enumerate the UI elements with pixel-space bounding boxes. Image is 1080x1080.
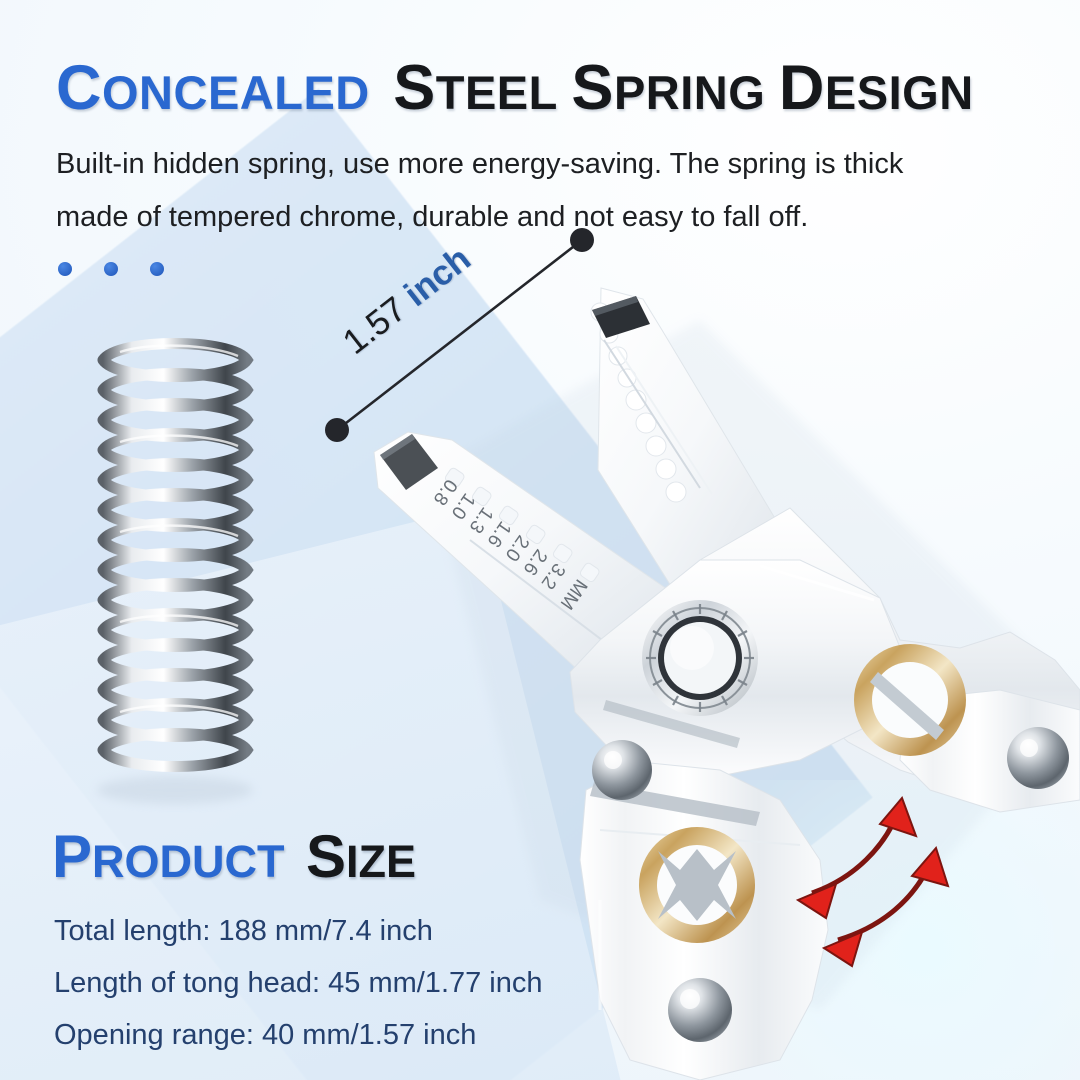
dot-icon <box>58 262 72 276</box>
pivot-ring <box>642 600 758 716</box>
spec-list: Total length: 188 mm/7.4 inch Length of … <box>54 905 543 1061</box>
chrome-coil-spring <box>97 344 253 805</box>
spec-row-opening-range: Opening range: 40 mm/1.57 inch <box>54 1009 543 1061</box>
product-size-heading: PRODUCT SIZE <box>52 822 416 891</box>
description-line-1: Built-in hidden spring, use more energy-… <box>56 138 1006 191</box>
brass-grommet-cross <box>639 827 755 943</box>
brass-grommet-slotted <box>854 644 966 756</box>
ball-bearing <box>1007 727 1069 789</box>
spec-row-total-length: Total length: 188 mm/7.4 inch <box>54 905 543 957</box>
decorative-dots <box>58 262 164 276</box>
spec-row-tong-head: Length of tong head: 45 mm/1.77 inch <box>54 957 543 1009</box>
page-title: CONCEALED STEEL SPRING DESIGN <box>56 52 1046 124</box>
infographic-canvas: 0.8 1.0 1.3 1.6 2.0 2.6 3.2 MM <box>0 0 1080 1080</box>
measurement-callout: 1.57 inch <box>300 215 630 465</box>
title-black-words: STEEL SPRING DESIGN <box>388 96 973 113</box>
measurement-label: 1.57 inch <box>336 239 479 363</box>
ball-bearing <box>668 978 732 1042</box>
ball-bearing <box>592 740 652 800</box>
title-blue-word: CONCEALED <box>56 96 375 113</box>
dot-icon <box>150 262 164 276</box>
dot-icon <box>104 262 118 276</box>
